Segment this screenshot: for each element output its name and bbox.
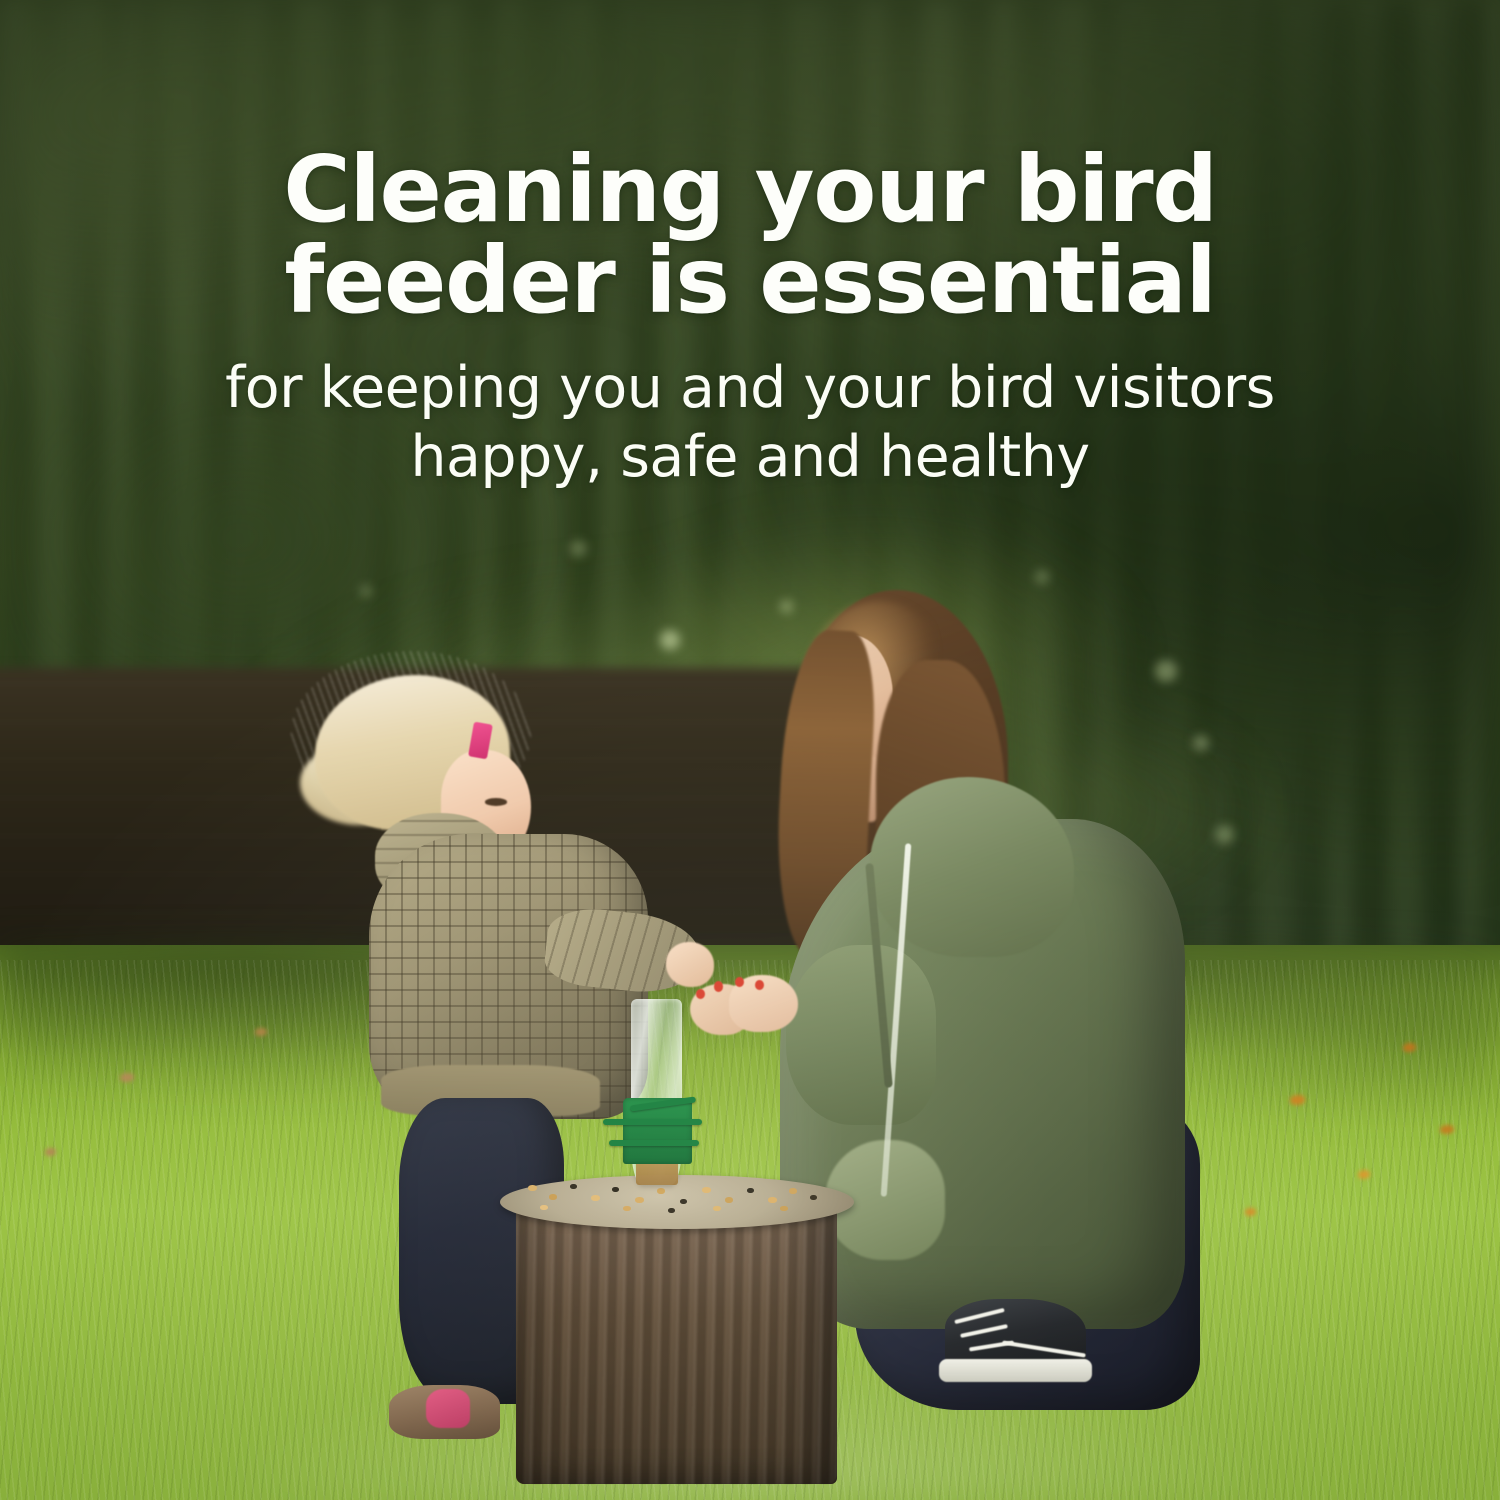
bokeh-highlight: [1035, 570, 1049, 584]
birdseed: [623, 1206, 631, 1211]
feeder-perch-stick: [609, 1140, 699, 1146]
fallen-leaf: [1358, 1170, 1370, 1179]
birdseed: [713, 1206, 721, 1211]
woman-sleeve: [786, 945, 936, 1125]
fallen-leaf: [1440, 1125, 1454, 1134]
subheadline: for keeping you and your bird visitors h…: [175, 354, 1325, 491]
fallen-leaf: [45, 1148, 56, 1156]
stump-wood-grain: [516, 1190, 837, 1484]
birdseed: [540, 1205, 548, 1210]
birdseed: [789, 1188, 797, 1194]
birdseed: [528, 1185, 537, 1191]
fallen-leaf: [1245, 1208, 1256, 1216]
birdseed: [702, 1187, 711, 1193]
child-hand: [666, 942, 714, 987]
bokeh-highlight: [1215, 825, 1234, 844]
subheadline-line-1: for keeping you and your bird visitors: [175, 354, 1325, 422]
child-shoe-pink-laces: [426, 1389, 470, 1428]
birdseed: [747, 1188, 754, 1193]
feeder-perch-stick: [603, 1119, 702, 1125]
bokeh-highlight: [570, 540, 587, 557]
birdseed: [725, 1197, 733, 1203]
fingernail: [714, 981, 723, 992]
fallen-leaf: [255, 1028, 267, 1036]
headline-line-2: feeder is essential: [270, 235, 1230, 326]
child-eye: [485, 798, 508, 806]
birdseed: [768, 1197, 777, 1203]
tree-stump: [516, 1190, 837, 1484]
birdseed: [680, 1199, 687, 1204]
birdseed: [668, 1208, 675, 1213]
bokeh-highlight: [780, 600, 793, 613]
fallen-leaf: [120, 1073, 134, 1082]
headline: Cleaning your bird feeder is essential: [270, 144, 1230, 326]
bokeh-highlight: [360, 585, 372, 597]
bokeh-highlight: [660, 630, 680, 650]
birdseed: [635, 1197, 644, 1203]
birdseed: [657, 1188, 665, 1194]
banner-copy: Cleaning your bird feeder is essential f…: [0, 0, 1500, 491]
birdseed: [780, 1206, 788, 1211]
banner-image: Cleaning your bird feeder is essential f…: [0, 0, 1500, 1500]
subheadline-line-2: happy, safe and healthy: [175, 423, 1325, 491]
birdseed: [612, 1187, 619, 1192]
birdseed: [570, 1184, 577, 1189]
bokeh-highlight: [1155, 660, 1177, 682]
fallen-leaf: [1403, 1043, 1416, 1052]
headline-line-1: Cleaning your bird: [270, 144, 1230, 235]
fingernail: [755, 980, 764, 991]
fallen-leaf: [1290, 1095, 1305, 1105]
woman-sneaker-sole: [939, 1359, 1092, 1382]
birdseed: [549, 1194, 557, 1200]
bokeh-highlight: [1193, 735, 1209, 751]
